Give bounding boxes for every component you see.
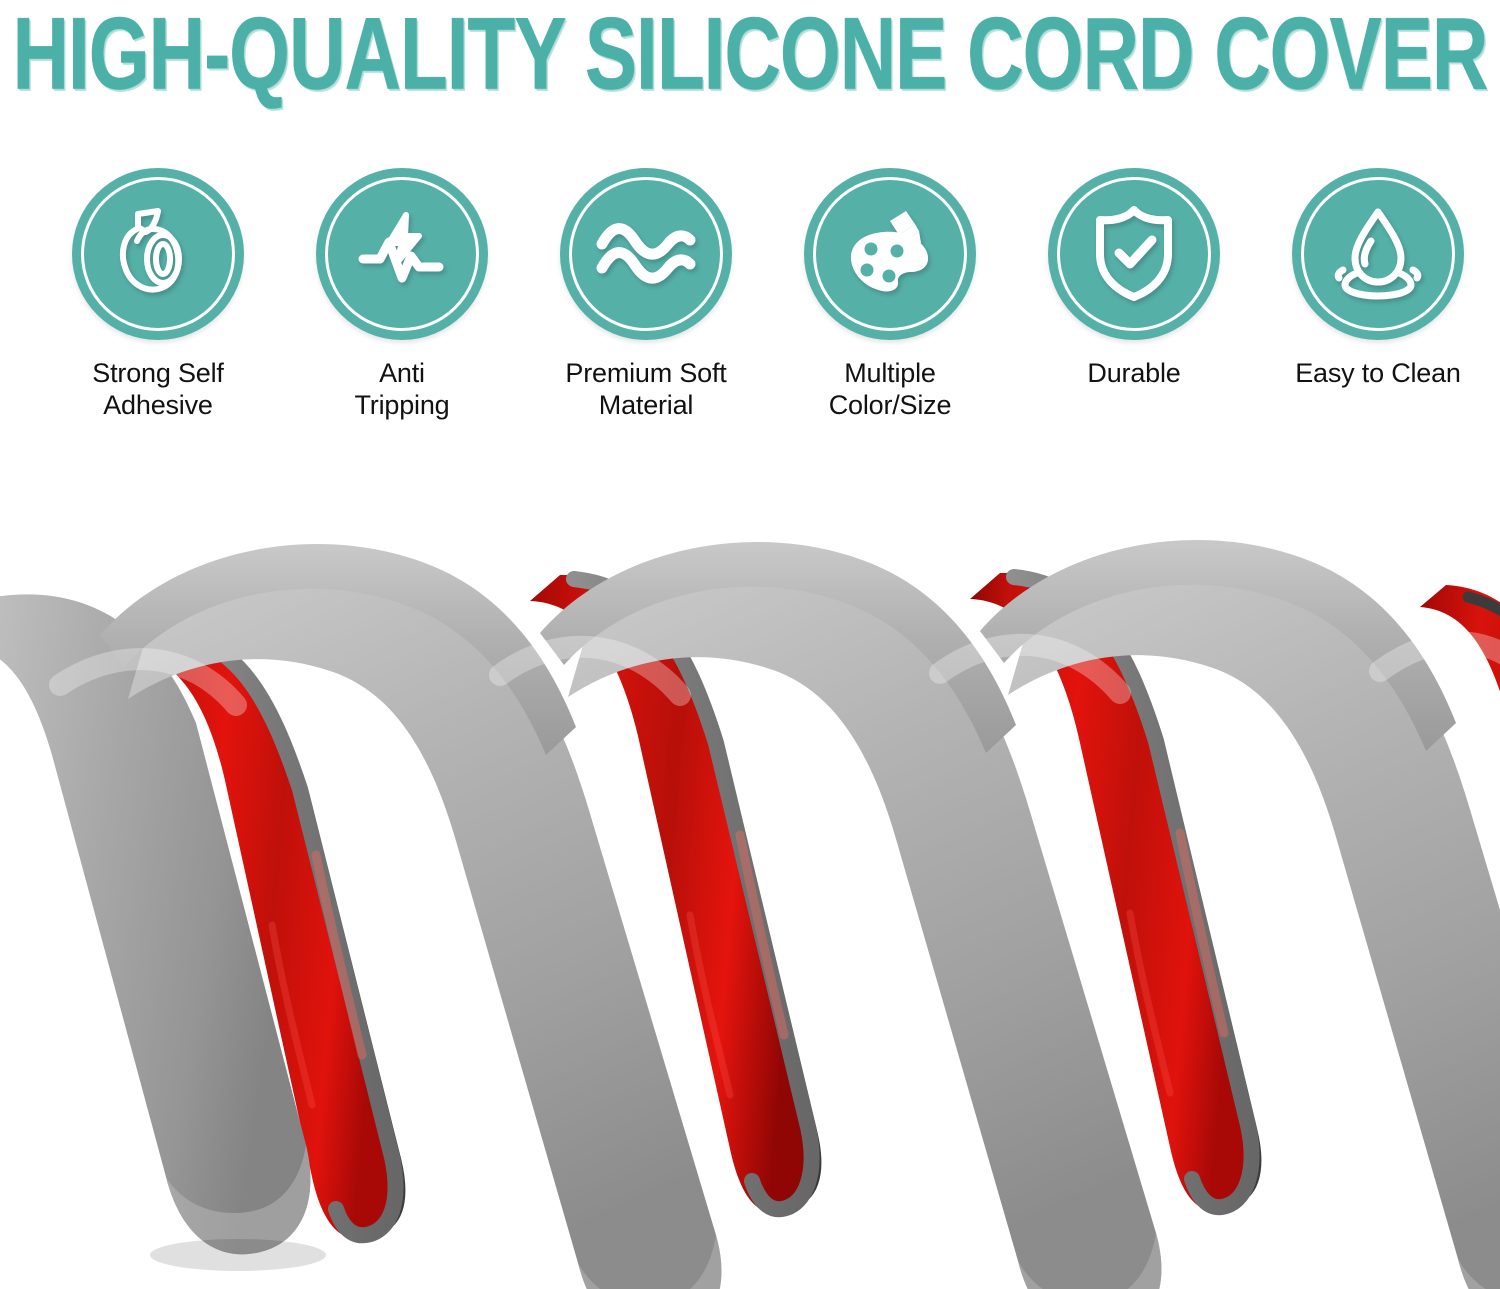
water-drop-ripple-icon [1323, 200, 1433, 309]
feature-badge [1292, 168, 1464, 340]
product-photo-region [0, 455, 1500, 1289]
feature-item-premium-soft-material[interactable]: Premium Soft Material [546, 168, 746, 421]
feature-list: Strong Self Adhesive Anti Tripping Premi… [58, 168, 1478, 421]
paint-palette-icon [837, 199, 943, 310]
wavy-lines-icon [592, 212, 700, 297]
feature-label: Strong Self Adhesive [92, 357, 223, 421]
feature-badge [804, 168, 976, 340]
page-title: HIGH-QUALITY SILICONE CORD COVER [13, 1, 1488, 103]
feature-item-durable[interactable]: Durable [1034, 168, 1234, 389]
feature-badge [560, 168, 732, 340]
feature-label: Easy to Clean [1295, 357, 1461, 389]
shield-check-icon [1084, 200, 1184, 309]
coiled-silicone-cord-cover-photo [0, 455, 1500, 1289]
feature-label: Anti Tripping [355, 357, 450, 421]
feature-badge [1048, 168, 1220, 340]
feature-badge [72, 168, 244, 340]
feature-item-easy-to-clean[interactable]: Easy to Clean [1278, 168, 1478, 389]
lightning-pulse-icon [349, 199, 455, 310]
feature-label: Multiple Color/Size [829, 357, 952, 421]
page-title-bar: HIGH-QUALITY SILICONE CORD COVER [0, 0, 1500, 105]
feature-item-strong-self-adhesive[interactable]: Strong Self Adhesive [58, 168, 258, 421]
feature-item-multiple-color-size[interactable]: Multiple Color/Size [790, 168, 990, 421]
tape-roll-icon [106, 200, 210, 309]
feature-badge [316, 168, 488, 340]
feature-label: Premium Soft Material [565, 357, 726, 421]
feature-label: Durable [1087, 357, 1180, 389]
feature-item-anti-tripping[interactable]: Anti Tripping [302, 168, 502, 421]
